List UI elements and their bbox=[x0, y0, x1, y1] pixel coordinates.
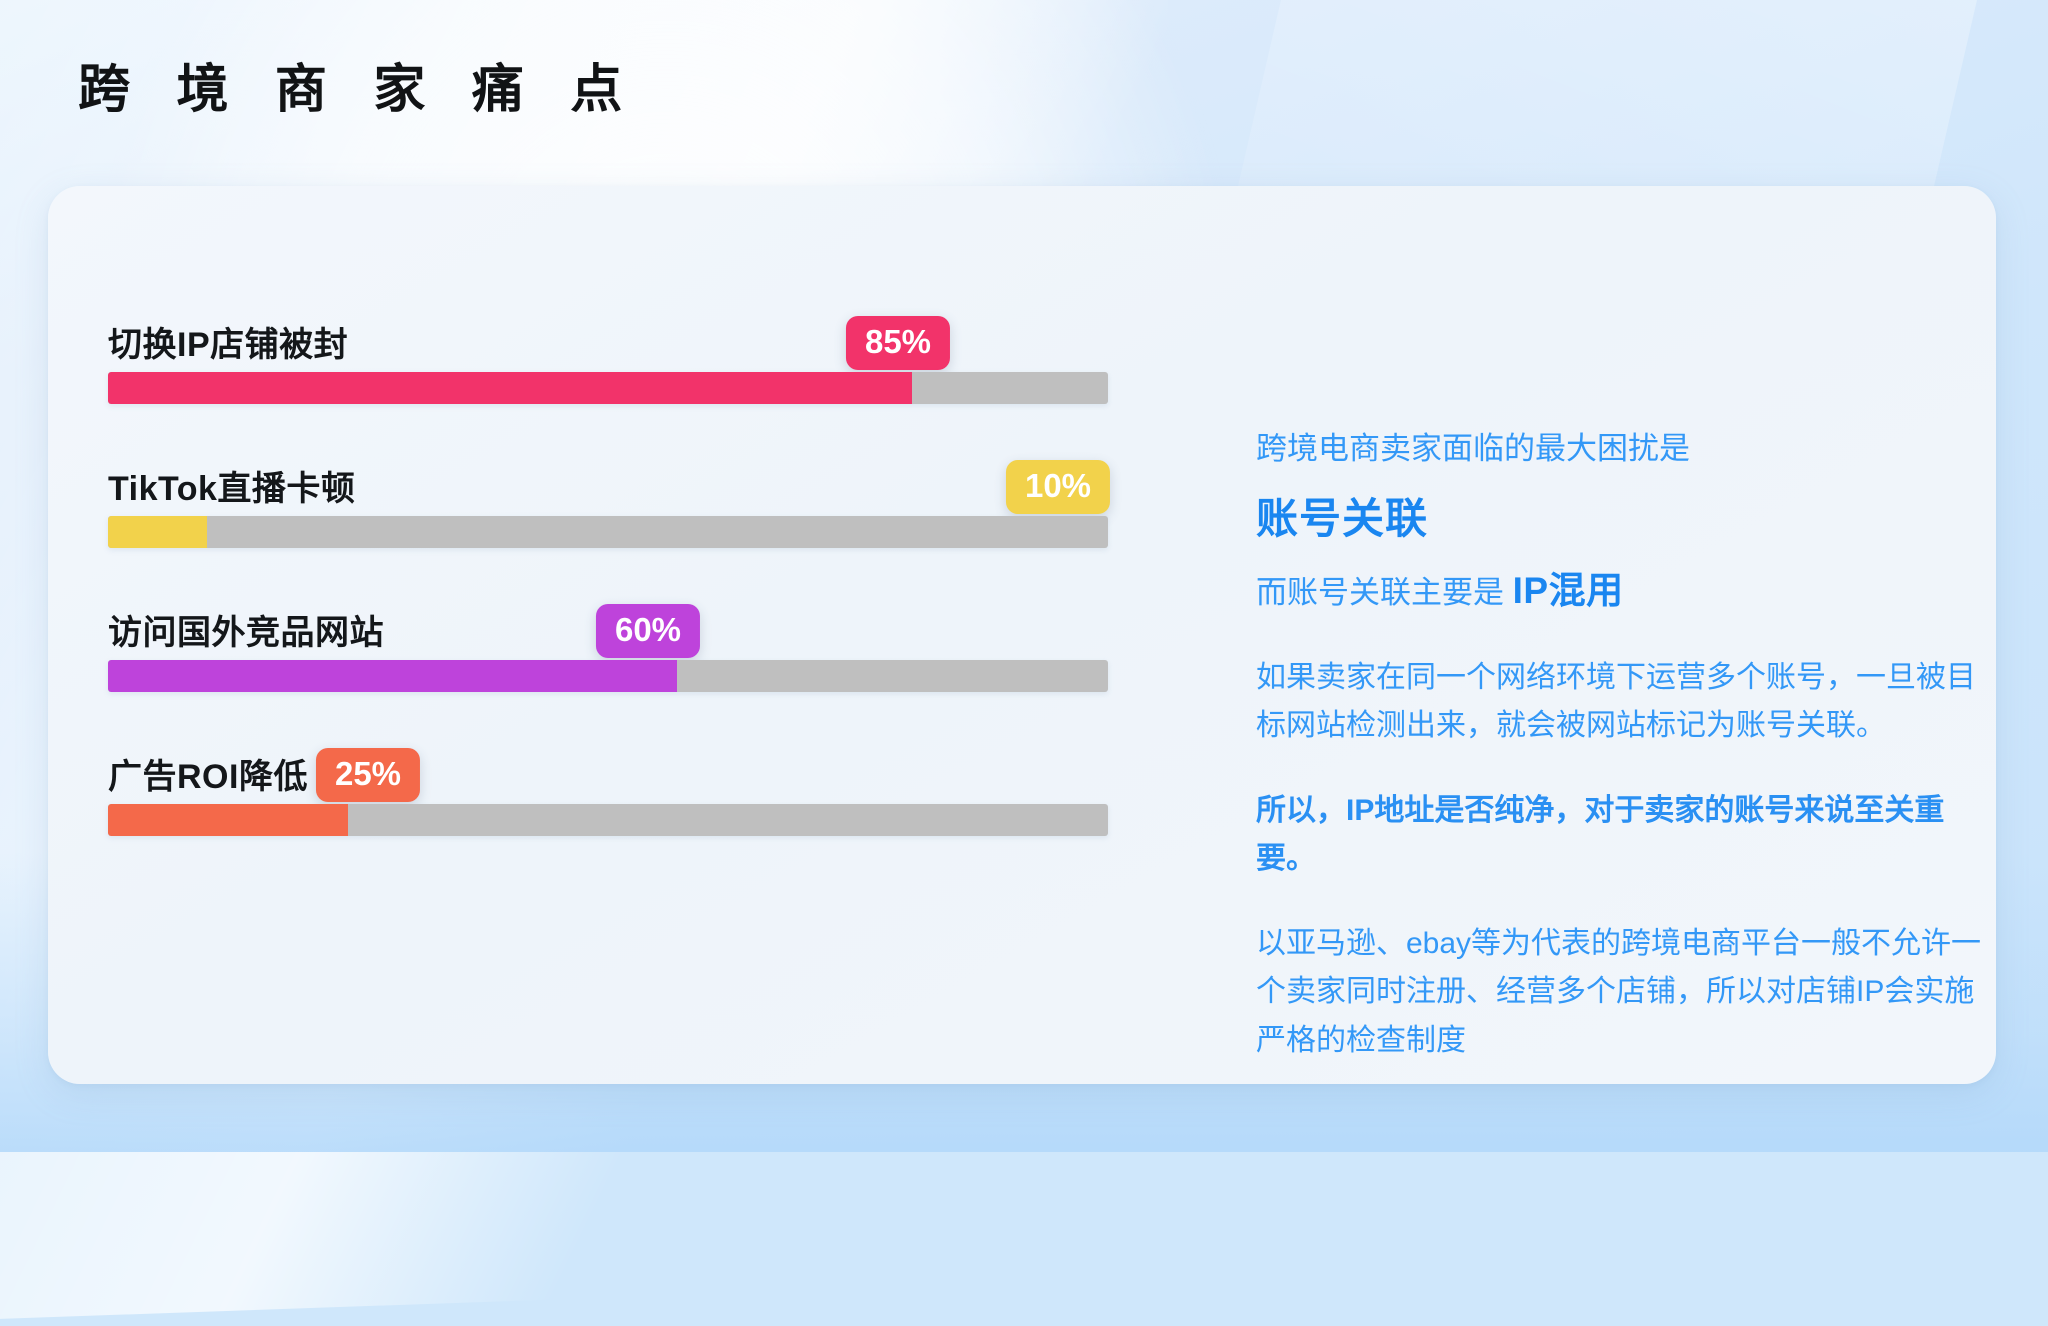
bar-value-badge: 10% bbox=[1006, 460, 1110, 514]
bar-fill bbox=[108, 804, 348, 836]
bar-header: 广告ROI降低25% bbox=[108, 738, 1160, 804]
bar-label: 访问国外竞品网站 bbox=[108, 605, 384, 654]
bar-label: TikTok直播卡顿 bbox=[108, 461, 355, 510]
bar-value-badge: 25% bbox=[316, 748, 420, 802]
bar-header: TikTok直播卡顿10% bbox=[108, 450, 1160, 516]
content-card: 切换IP店铺被封85%TikTok直播卡顿10%访问国外竞品网站60%广告ROI… bbox=[48, 186, 1996, 1084]
paragraph-three: 以亚马逊、ebay等为代表的跨境电商平台一般不允许一个卖家同时注册、经营多个店铺… bbox=[1256, 920, 1996, 1066]
paragraph-two: 所以，IP地址是否纯净，对于卖家的账号来说至关重要。 bbox=[1256, 787, 1996, 884]
subheadline-prefix: 而账号关联主要是 bbox=[1256, 575, 1504, 610]
bar-row: 访问国外竞品网站60% bbox=[108, 594, 1160, 692]
bar-value-badge: 60% bbox=[596, 604, 700, 658]
lead-text: 跨境电商卖家面临的最大困扰是 bbox=[1256, 426, 1996, 473]
bar-row: TikTok直播卡顿10% bbox=[108, 450, 1160, 548]
page-title: 跨 境 商 家 痛 点 bbox=[78, 62, 638, 119]
subheadline-emphasis: IP混用 bbox=[1513, 570, 1624, 611]
bar-label: 广告ROI降低 bbox=[108, 749, 308, 798]
headline-text: 账号关联 bbox=[1256, 485, 1996, 546]
bar-fill bbox=[108, 516, 207, 548]
bar-label: 切换IP店铺被封 bbox=[108, 317, 348, 366]
bar-header: 切换IP店铺被封85% bbox=[108, 306, 1160, 372]
bar-fill bbox=[108, 372, 912, 404]
pain-points-bar-chart: 切换IP店铺被封85%TikTok直播卡顿10%访问国外竞品网站60%广告ROI… bbox=[108, 306, 1160, 836]
bar-fill bbox=[108, 660, 677, 692]
bar-row: 广告ROI降低25% bbox=[108, 738, 1160, 836]
bar-track bbox=[108, 372, 1108, 404]
explanation-text-panel: 跨境电商卖家面临的最大困扰是 账号关联 而账号关联主要是 IP混用 如果卖家在同… bbox=[1256, 426, 1996, 1066]
bar-row: 切换IP店铺被封85% bbox=[108, 306, 1160, 404]
subheadline-text: 而账号关联主要是 IP混用 bbox=[1256, 560, 1996, 614]
bar-value-badge: 85% bbox=[846, 316, 950, 370]
bar-header: 访问国外竞品网站60% bbox=[108, 594, 1160, 660]
bar-track bbox=[108, 660, 1108, 692]
paragraph-one: 如果卖家在同一个网络环境下运营多个账号，一旦被目标网站检测出来，就会被网站标记为… bbox=[1256, 654, 1996, 751]
bar-track bbox=[108, 516, 1108, 548]
bar-track bbox=[108, 804, 1108, 836]
